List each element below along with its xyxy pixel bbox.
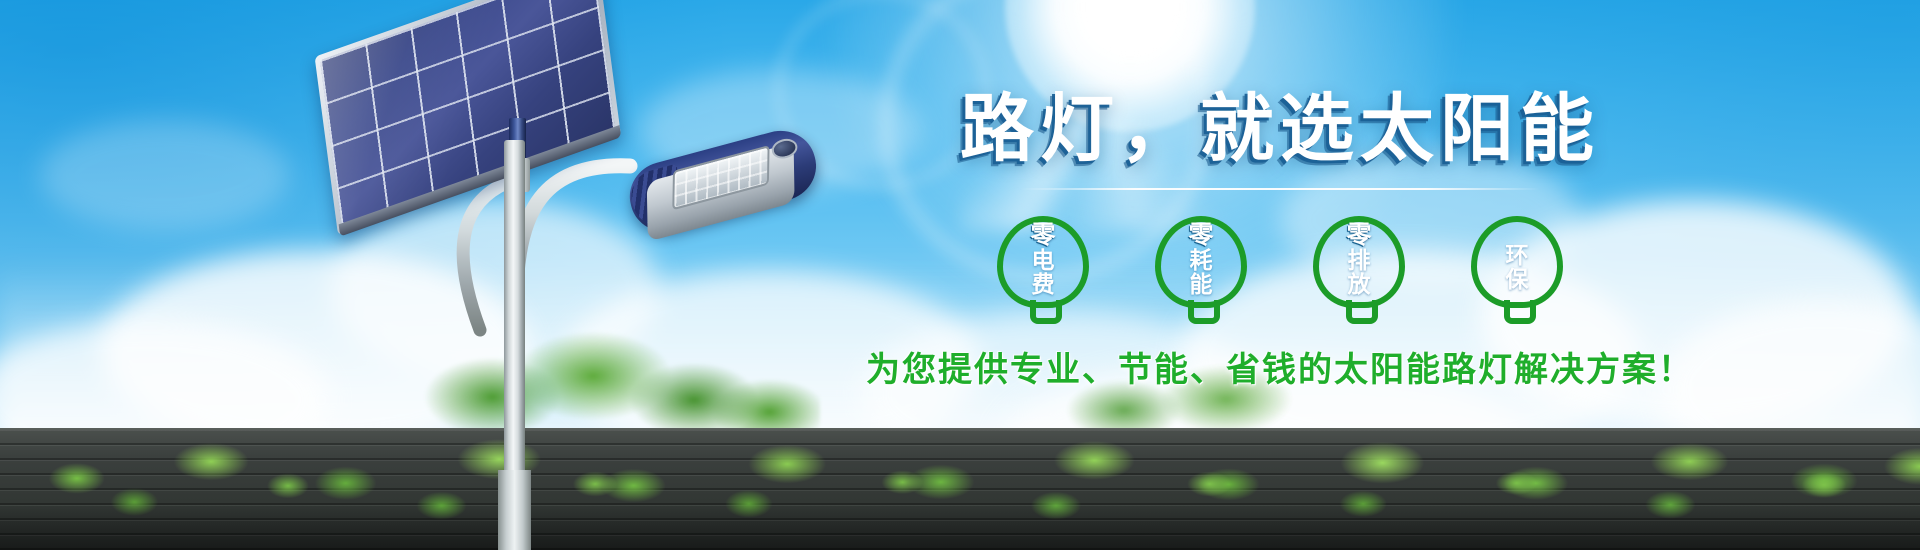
badge-text: 零 电 费 <box>997 222 1089 297</box>
feature-badge-eco-friendly[interactable]: 环 保 <box>1471 216 1563 324</box>
solar-street-light-banner: 路灯，就选太阳能 零 电 费 零 耗 能 <box>0 0 1920 550</box>
badge-line-1: 环 <box>1506 244 1529 268</box>
badge-line-2: 能 <box>1190 273 1213 297</box>
badge-zero-glyph: 零 <box>1188 222 1213 249</box>
badge-text: 零 排 放 <box>1313 222 1405 297</box>
feature-badge-zero-energy-consumption[interactable]: 零 耗 能 <box>1155 216 1247 324</box>
badge-line-2: 放 <box>1348 273 1371 297</box>
feature-badge-zero-emission[interactable]: 零 排 放 <box>1313 216 1405 324</box>
badge-line-1: 电 <box>1032 249 1055 273</box>
cloud <box>40 120 290 230</box>
badge-line-1: 耗 <box>1190 249 1213 273</box>
feature-badge-list: 零 电 费 零 耗 能 零 排 放 <box>740 216 1820 324</box>
feature-badge-zero-electricity-cost[interactable]: 零 电 费 <box>997 216 1089 324</box>
badge-text: 零 耗 能 <box>1155 222 1247 297</box>
headline: 路灯，就选太阳能 <box>740 92 1820 166</box>
badge-line-2: 保 <box>1506 268 1529 292</box>
badge-text: 环 保 <box>1471 222 1563 293</box>
light-pole-base <box>498 470 531 550</box>
headline-divider <box>1020 188 1540 190</box>
banner-copy: 路灯，就选太阳能 零 电 费 零 耗 能 <box>740 92 1820 391</box>
tagline: 为您提供专业、节能、省钱的太阳能路灯解决方案！ <box>740 342 1820 391</box>
badge-line-2: 费 <box>1032 273 1055 297</box>
badge-zero-glyph: 零 <box>1030 222 1055 249</box>
badge-zero-glyph: 零 <box>1346 222 1371 249</box>
badge-line-1: 排 <box>1348 249 1371 273</box>
